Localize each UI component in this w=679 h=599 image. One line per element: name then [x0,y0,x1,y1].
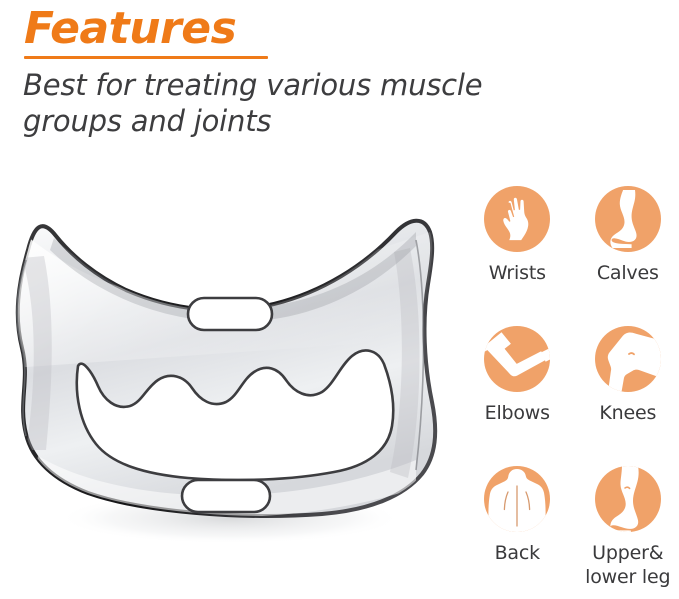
subtitle: Best for treating various muscle groups … [23,67,563,139]
feature-infographic: Features Best for treating various muscl… [0,0,679,599]
full-leg-icon [595,466,661,532]
feature-item-elbows[interactable]: Elbows [466,326,569,466]
subtitle-line-1: Best for treating various muscle [23,67,563,103]
subtitle-line-2: groups and joints [23,103,563,139]
bent-arm-elbow-icon [484,326,550,392]
header-block: Features Best for treating various muscl… [22,4,622,139]
feature-label: Wrists [489,261,546,285]
feature-item-knees[interactable]: Knees [577,326,679,466]
feature-item-back[interactable]: Back [466,466,569,599]
title-underline-rule [24,56,268,59]
feature-item-upper-lower-leg[interactable]: Upper& lower leg [577,466,679,599]
feature-item-wrists[interactable]: Wrists [466,186,569,326]
product-image-gua-sha-tool [0,188,462,588]
calf-leg-icon [595,186,661,252]
tool-lower-slot [182,480,270,512]
back-torso-icon [484,466,550,532]
page-title: Features [22,4,622,54]
bent-leg-knee-icon [595,326,661,392]
feature-item-calves[interactable]: Calves [577,186,679,326]
product-illustration [0,188,462,588]
feature-label: Calves [597,261,659,285]
tool-upper-slot [188,298,272,330]
feature-label: Back [495,541,540,565]
feature-label: Elbows [485,401,550,425]
feature-label: Knees [599,401,656,425]
wrist-hand-icon [484,186,550,252]
body-parts-icon-grid: Wrists Calves [466,186,679,599]
feature-label: Upper& lower leg [585,541,670,589]
